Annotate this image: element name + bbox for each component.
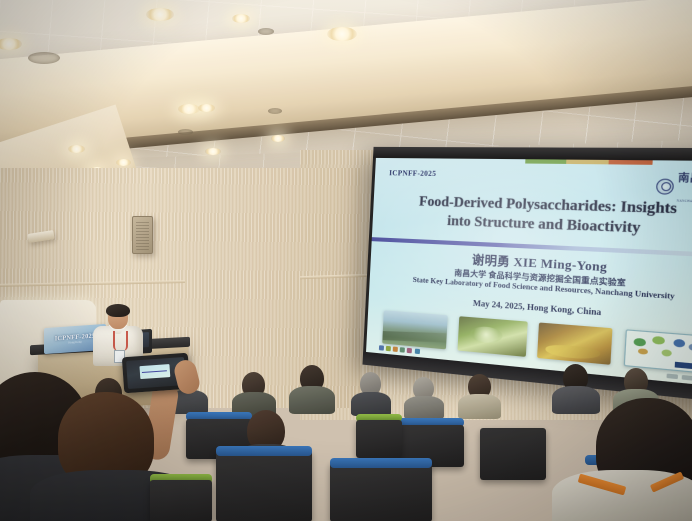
university-seal-icon bbox=[656, 178, 674, 194]
logo-text-cn: 南昌 bbox=[678, 172, 692, 184]
auditorium-chair bbox=[330, 462, 432, 521]
ceiling-downlight bbox=[271, 135, 285, 142]
slide-photo-campus-lakeside-view bbox=[382, 311, 448, 350]
ceiling-downlight bbox=[205, 148, 221, 155]
ceiling-downlight bbox=[327, 27, 357, 41]
ceiling-downlight bbox=[178, 104, 200, 114]
ceiling-vent bbox=[258, 28, 274, 35]
slide-footer-logos-right bbox=[667, 374, 692, 383]
presenter-lanyard bbox=[113, 331, 128, 351]
ceiling-vent bbox=[268, 108, 282, 114]
ceiling-downlight bbox=[68, 145, 85, 153]
auditorium-chair bbox=[216, 446, 312, 456]
auditorium-chair bbox=[216, 450, 312, 521]
slide-conference-tag: ICPNFF-2025 bbox=[389, 169, 436, 178]
projection-screen: ICPNFF-2025 南昌 NANCHANG UNIVERSITY Food-… bbox=[362, 147, 692, 403]
presenter-hair bbox=[106, 304, 130, 317]
slide-title: Food-Derived Polysaccharides: Insights i… bbox=[391, 191, 692, 240]
slide-photo-green-vegetables-harvest bbox=[457, 317, 527, 358]
auditorium-chair bbox=[356, 420, 402, 458]
ceiling-downlight bbox=[198, 104, 215, 112]
ceiling-vent bbox=[28, 52, 60, 64]
ceiling-downlight bbox=[116, 159, 131, 166]
podium-sign-subtitle: Hong Kong bbox=[68, 341, 81, 345]
auditorium-chair bbox=[150, 480, 212, 521]
ceiling-downlight bbox=[232, 14, 250, 23]
auditorium-chair bbox=[480, 428, 546, 480]
slide-top-color-tabs bbox=[525, 159, 653, 165]
wall-mounted-speaker bbox=[132, 216, 153, 254]
ceiling-downlight bbox=[146, 8, 174, 21]
presentation-slide: ICPNFF-2025 南昌 NANCHANG UNIVERSITY Food-… bbox=[366, 158, 692, 387]
ceiling-vent bbox=[178, 129, 193, 135]
auditorium-chair bbox=[330, 458, 432, 468]
lecture-hall-photo: ICPNFF-2025 南昌 NANCHANG UNIVERSITY Food-… bbox=[0, 0, 692, 521]
phone-slide-preview bbox=[139, 364, 170, 379]
slide-photo-fruits-and-vegetables bbox=[537, 323, 612, 365]
